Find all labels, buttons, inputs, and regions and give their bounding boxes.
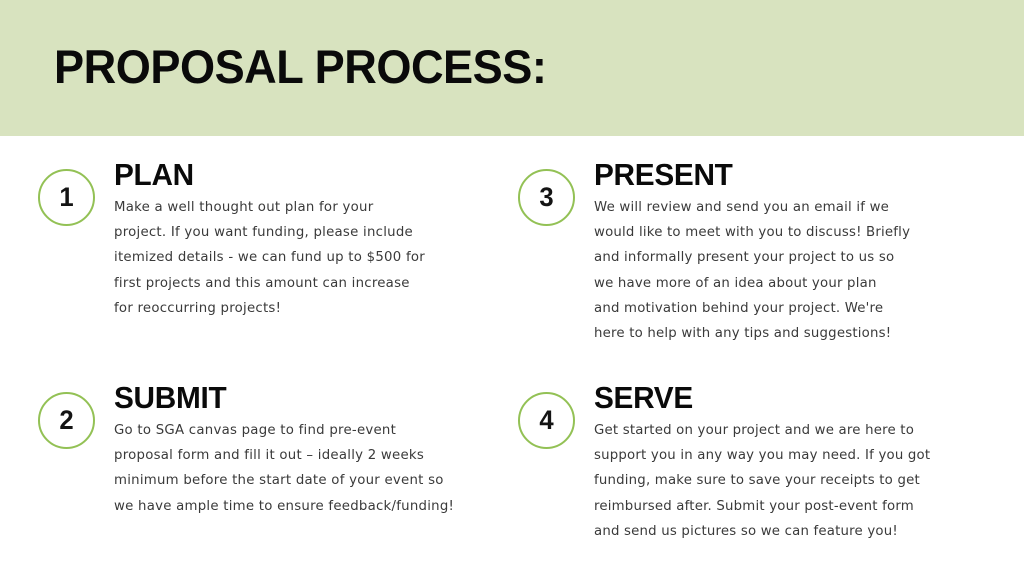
step-text-line: proposal form and fill it out – ideally …: [114, 443, 478, 468]
step-number-badge: 1: [38, 169, 95, 226]
step-number-badge: 4: [518, 392, 575, 449]
step-text-line: Get started on your project and we are h…: [594, 418, 988, 443]
step-number-label: 2: [59, 407, 73, 434]
step-text-line: and informally present your project to u…: [594, 245, 988, 270]
step-text-line: project. If you want funding, please inc…: [114, 220, 478, 245]
step-number-label: 4: [539, 407, 553, 434]
step-body: SERVE Get started on your project and we…: [594, 381, 988, 544]
step-item-serve: 4 SERVE Get started on your project and …: [518, 381, 988, 544]
step-text-line: and motivation behind your project. We'r…: [594, 296, 988, 321]
step-text-line: minimum before the start date of your ev…: [114, 468, 478, 493]
step-text-line: here to help with any tips and suggestio…: [594, 321, 988, 346]
step-text-line: funding, make sure to save your receipts…: [594, 468, 988, 493]
steps-container: 1 PLAN Make a well thought out plan for …: [0, 136, 1024, 576]
step-number-label: 1: [59, 184, 73, 211]
step-text-line: itemized details - we can fund up to $50…: [114, 245, 478, 270]
step-text-line: support you in any way you may need. If …: [594, 443, 988, 468]
step-description: Make a well thought out plan for your pr…: [114, 195, 478, 321]
step-text-line: we have more of an idea about your plan: [594, 271, 988, 296]
step-heading: PLAN: [114, 158, 463, 193]
step-description: Go to SGA canvas page to find pre-event …: [114, 418, 478, 519]
step-description: Get started on your project and we are h…: [594, 418, 988, 544]
step-text-line: we have ample time to ensure feedback/fu…: [114, 494, 478, 519]
step-description: We will review and send you an email if …: [594, 195, 988, 347]
step-body: PLAN Make a well thought out plan for yo…: [114, 158, 478, 321]
step-text-line: and send us pictures so we can feature y…: [594, 519, 988, 544]
step-text-line: would like to meet with you to discuss! …: [594, 220, 988, 245]
step-heading: PRESENT: [594, 158, 972, 193]
page-title: PROPOSAL PROCESS:: [54, 43, 546, 92]
step-text-line: We will review and send you an email if …: [594, 195, 988, 220]
step-body: PRESENT We will review and send you an e…: [594, 158, 988, 347]
slide-root: PROPOSAL PROCESS: 1 PLAN Make a well tho…: [0, 0, 1024, 576]
step-item-plan: 1 PLAN Make a well thought out plan for …: [38, 158, 478, 321]
step-number-badge: 2: [38, 392, 95, 449]
step-text-line: reimbursed after. Submit your post-event…: [594, 494, 988, 519]
header-band: PROPOSAL PROCESS:: [0, 0, 1024, 136]
step-heading: SUBMIT: [114, 381, 463, 416]
step-text-line: for reoccurring projects!: [114, 296, 478, 321]
step-text-line: Make a well thought out plan for your: [114, 195, 478, 220]
step-body: SUBMIT Go to SGA canvas page to find pre…: [114, 381, 478, 519]
step-item-present: 3 PRESENT We will review and send you an…: [518, 158, 988, 347]
step-number-badge: 3: [518, 169, 575, 226]
step-heading: SERVE: [594, 381, 972, 416]
step-item-submit: 2 SUBMIT Go to SGA canvas page to find p…: [38, 381, 478, 519]
step-text-line: first projects and this amount can incre…: [114, 271, 478, 296]
step-text-line: Go to SGA canvas page to find pre-event: [114, 418, 478, 443]
step-number-label: 3: [539, 184, 553, 211]
